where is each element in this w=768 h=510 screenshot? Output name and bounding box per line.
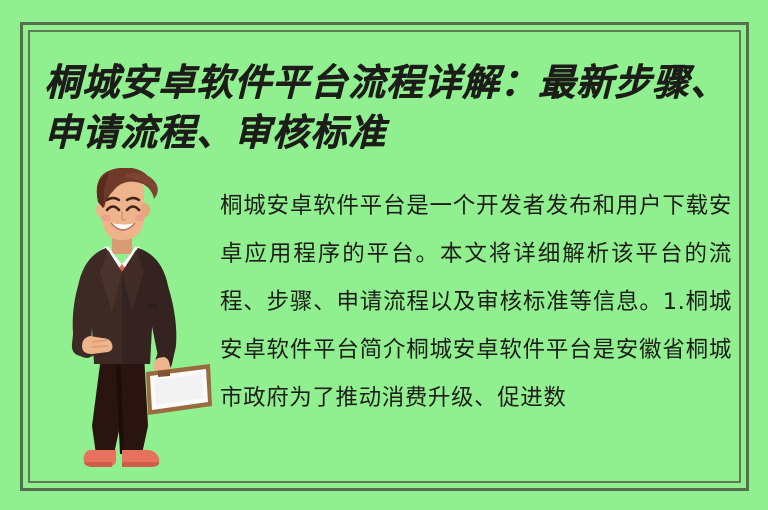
left-shoe-sole	[84, 462, 112, 467]
article-body: 桐城安卓软件平台是一个开发者发布和用户下载安卓应用程序的平台。本文将详细解析该平…	[220, 182, 732, 474]
illustration	[62, 168, 212, 490]
clipboard-clip	[158, 370, 170, 377]
businessman-illustration-svg	[62, 168, 212, 490]
left-cheek	[101, 215, 111, 222]
article-banner: 桐城安卓软件平台流程详解：最新步骤、申请流程、审核标准	[0, 0, 768, 510]
clipboard	[146, 364, 212, 415]
right-shoe-sole	[122, 462, 159, 467]
right-cheek	[135, 215, 145, 222]
page-title: 桐城安卓软件平台流程详解：最新步骤、申请流程、审核标准	[44, 57, 734, 157]
